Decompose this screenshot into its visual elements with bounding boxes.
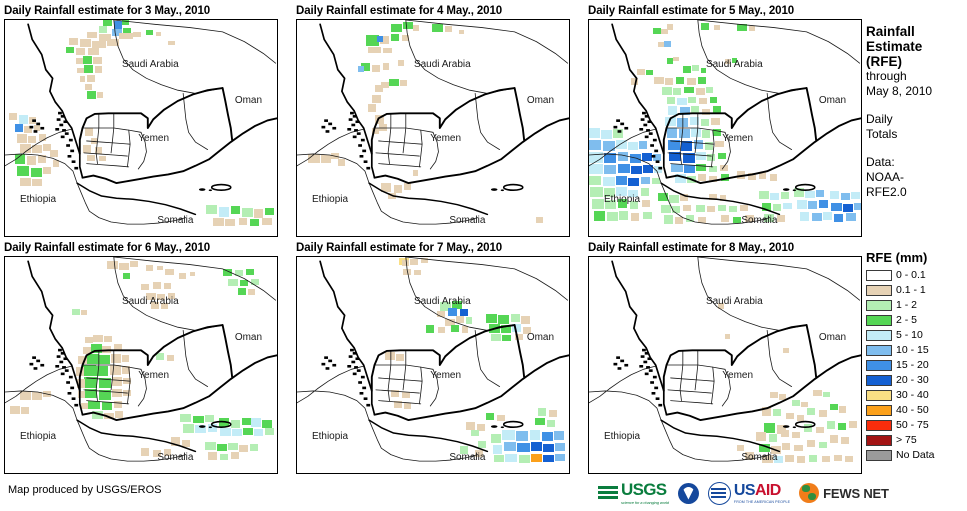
legend-row-list: 0 - 0.10.1 - 11 - 22 - 55 - 1010 - 1515 … (866, 268, 967, 463)
legend-title: RFE (mm) (866, 250, 967, 265)
map-canvas-3[interactable]: Saudi ArabiaOmanYemenEthiopiaSomalia (588, 19, 862, 237)
rainfall-panel-1: Daily Rainfall estimate for 3 May., 2010… (4, 3, 278, 237)
legend-label: 10 - 15 (896, 345, 929, 356)
country-label-yemen: Yemen (722, 370, 753, 381)
legend-label: 20 - 30 (896, 375, 929, 386)
legend-label: 30 - 40 (896, 390, 929, 401)
country-label-ethiopia: Ethiopia (604, 194, 640, 205)
rfe-legend: RFE (mm) 0 - 0.10.1 - 11 - 22 - 55 - 101… (866, 250, 967, 463)
usgs-logo-text: USGS (621, 480, 666, 499)
legend-swatch (866, 405, 892, 416)
usaid-logo-text-block: USAID FROM THE AMERICAN PEOPLE (734, 482, 790, 504)
rainfall-panel-2: Daily Rainfall estimate for 4 May., 2010… (296, 3, 570, 237)
noaa-seal-icon (678, 483, 699, 504)
country-label-somalia: Somalia (741, 452, 777, 463)
legend-swatch (866, 390, 892, 401)
panel-title-5: Daily Rainfall estimate for 7 May., 2010 (296, 240, 570, 256)
map-header-block: Rainfall Estimate (RFE) through May 8, 2… (866, 24, 967, 200)
legend-row: 20 - 30 (866, 373, 967, 388)
country-label-yemen: Yemen (138, 133, 169, 144)
rainfall-panel-6: Daily Rainfall estimate for 8 May., 2010… (588, 240, 862, 474)
legend-label: 0 - 0.1 (896, 270, 926, 281)
header-totals-line1: Daily (866, 112, 967, 127)
country-label-somalia: Somalia (741, 215, 777, 226)
legend-label: 5 - 10 (896, 330, 923, 341)
usaid-text-us: US (734, 482, 755, 499)
legend-label: 1 - 2 (896, 300, 917, 311)
country-label-somalia: Somalia (449, 452, 485, 463)
country-label-yemen: Yemen (430, 370, 461, 381)
country-label-saudi-arabia: Saudi Arabia (122, 296, 179, 307)
legend-label: 40 - 50 (896, 405, 929, 416)
country-label-ethiopia: Ethiopia (20, 431, 56, 442)
legend-label: No Data (896, 450, 935, 461)
usaid-seal-icon (708, 482, 731, 505)
usgs-tagline: science for a changing world (621, 500, 669, 505)
panel-title-2: Daily Rainfall estimate for 4 May., 2010 (296, 3, 570, 19)
map-credit: Map produced by USGS/EROS (8, 484, 161, 496)
usgs-wave-icon (598, 484, 620, 502)
legend-swatch (866, 345, 892, 356)
country-label-yemen: Yemen (430, 133, 461, 144)
usaid-text-aid: AID (755, 482, 781, 499)
header-title-line1: Rainfall (866, 24, 967, 39)
map-canvas-5[interactable]: Saudi ArabiaOmanYemenEthiopiaSomalia (296, 256, 570, 474)
legend-swatch (866, 450, 892, 461)
header-totals-line2: Totals (866, 127, 967, 142)
legend-label: 15 - 20 (896, 360, 929, 371)
country-label-oman: Oman (527, 95, 554, 106)
legend-label: > 75 (896, 435, 917, 446)
header-data-label: Data: (866, 155, 967, 170)
legend-row: 15 - 20 (866, 358, 967, 373)
legend-row: 0.1 - 1 (866, 283, 967, 298)
usaid-tagline: FROM THE AMERICAN PEOPLE (734, 500, 790, 504)
header-title-line3: (RFE) (866, 54, 967, 69)
panel-title-3: Daily Rainfall estimate for 5 May., 2010 (588, 3, 862, 19)
panel-title-4: Daily Rainfall estimate for 6 May., 2010 (4, 240, 278, 256)
legend-row: 40 - 50 (866, 403, 967, 418)
country-label-saudi-arabia: Saudi Arabia (414, 296, 471, 307)
usgs-logo-text-block: USGS science for a changing world (621, 482, 669, 505)
legend-swatch (866, 315, 892, 326)
country-label-somalia: Somalia (157, 215, 193, 226)
country-label-oman: Oman (819, 332, 846, 343)
legend-row: 0 - 0.1 (866, 268, 967, 283)
legend-swatch (866, 300, 892, 311)
map-canvas-6[interactable]: Saudi ArabiaOmanYemenEthiopiaSomalia (588, 256, 862, 474)
legend-swatch (866, 285, 892, 296)
map-canvas-2[interactable]: Saudi ArabiaOmanYemenEthiopiaSomalia (296, 19, 570, 237)
header-data-source2: RFE2.0 (866, 185, 967, 200)
usaid-logo-text: USAID (734, 482, 781, 499)
country-label-ethiopia: Ethiopia (20, 194, 56, 205)
legend-swatch (866, 330, 892, 341)
legend-swatch (866, 360, 892, 371)
country-label-oman: Oman (819, 95, 846, 106)
rainfall-panel-5: Daily Rainfall estimate for 7 May., 2010… (296, 240, 570, 474)
legend-row: 50 - 75 (866, 418, 967, 433)
fews-globe-icon (799, 483, 819, 503)
fews-net-text: FEWS NET (823, 486, 889, 501)
noaa-logo (678, 483, 699, 504)
country-label-ethiopia: Ethiopia (312, 194, 348, 205)
panel-title-1: Daily Rainfall estimate for 3 May., 2010 (4, 3, 278, 19)
panel-title-6: Daily Rainfall estimate for 8 May., 2010 (588, 240, 862, 256)
country-label-saudi-arabia: Saudi Arabia (706, 296, 763, 307)
country-label-oman: Oman (527, 332, 554, 343)
header-through-label: through (866, 69, 967, 84)
legend-swatch (866, 420, 892, 431)
fews-net-logo: FEWS NET (799, 483, 889, 503)
usaid-logo: USAID FROM THE AMERICAN PEOPLE (708, 482, 790, 505)
header-through-date: May 8, 2010 (866, 84, 967, 99)
usgs-logo: USGS science for a changing world (598, 482, 669, 505)
country-label-ethiopia: Ethiopia (604, 431, 640, 442)
legend-label: 2 - 5 (896, 315, 917, 326)
country-label-yemen: Yemen (138, 370, 169, 381)
legend-swatch (866, 375, 892, 386)
legend-swatch (866, 435, 892, 446)
country-label-saudi-arabia: Saudi Arabia (706, 59, 763, 70)
rainfall-panel-3: Daily Rainfall estimate for 5 May., 2010… (588, 3, 862, 237)
legend-row: > 75 (866, 433, 967, 448)
country-label-ethiopia: Ethiopia (312, 431, 348, 442)
country-label-oman: Oman (235, 95, 262, 106)
legend-row: 30 - 40 (866, 388, 967, 403)
legend-row: 2 - 5 (866, 313, 967, 328)
agency-logo-strip: USGS science for a changing world USAID … (598, 478, 898, 508)
country-label-yemen: Yemen (722, 133, 753, 144)
legend-label: 0.1 - 1 (896, 285, 926, 296)
legend-swatch (866, 270, 892, 281)
map-canvas-1[interactable]: Saudi ArabiaOmanYemenEthiopiaSomalia (4, 19, 278, 237)
country-label-somalia: Somalia (449, 215, 485, 226)
map-canvas-4[interactable]: Saudi ArabiaOmanYemenEthiopiaSomalia (4, 256, 278, 474)
country-label-saudi-arabia: Saudi Arabia (122, 59, 179, 70)
country-label-oman: Oman (235, 332, 262, 343)
header-title-line2: Estimate (866, 39, 967, 54)
legend-row: 5 - 10 (866, 328, 967, 343)
legend-row: 1 - 2 (866, 298, 967, 313)
rainfall-panel-4: Daily Rainfall estimate for 6 May., 2010… (4, 240, 278, 474)
legend-row: 10 - 15 (866, 343, 967, 358)
country-label-saudi-arabia: Saudi Arabia (414, 59, 471, 70)
country-label-somalia: Somalia (157, 452, 193, 463)
legend-row: No Data (866, 448, 967, 463)
legend-label: 50 - 75 (896, 420, 929, 431)
header-data-source1: NOAA- (866, 170, 967, 185)
